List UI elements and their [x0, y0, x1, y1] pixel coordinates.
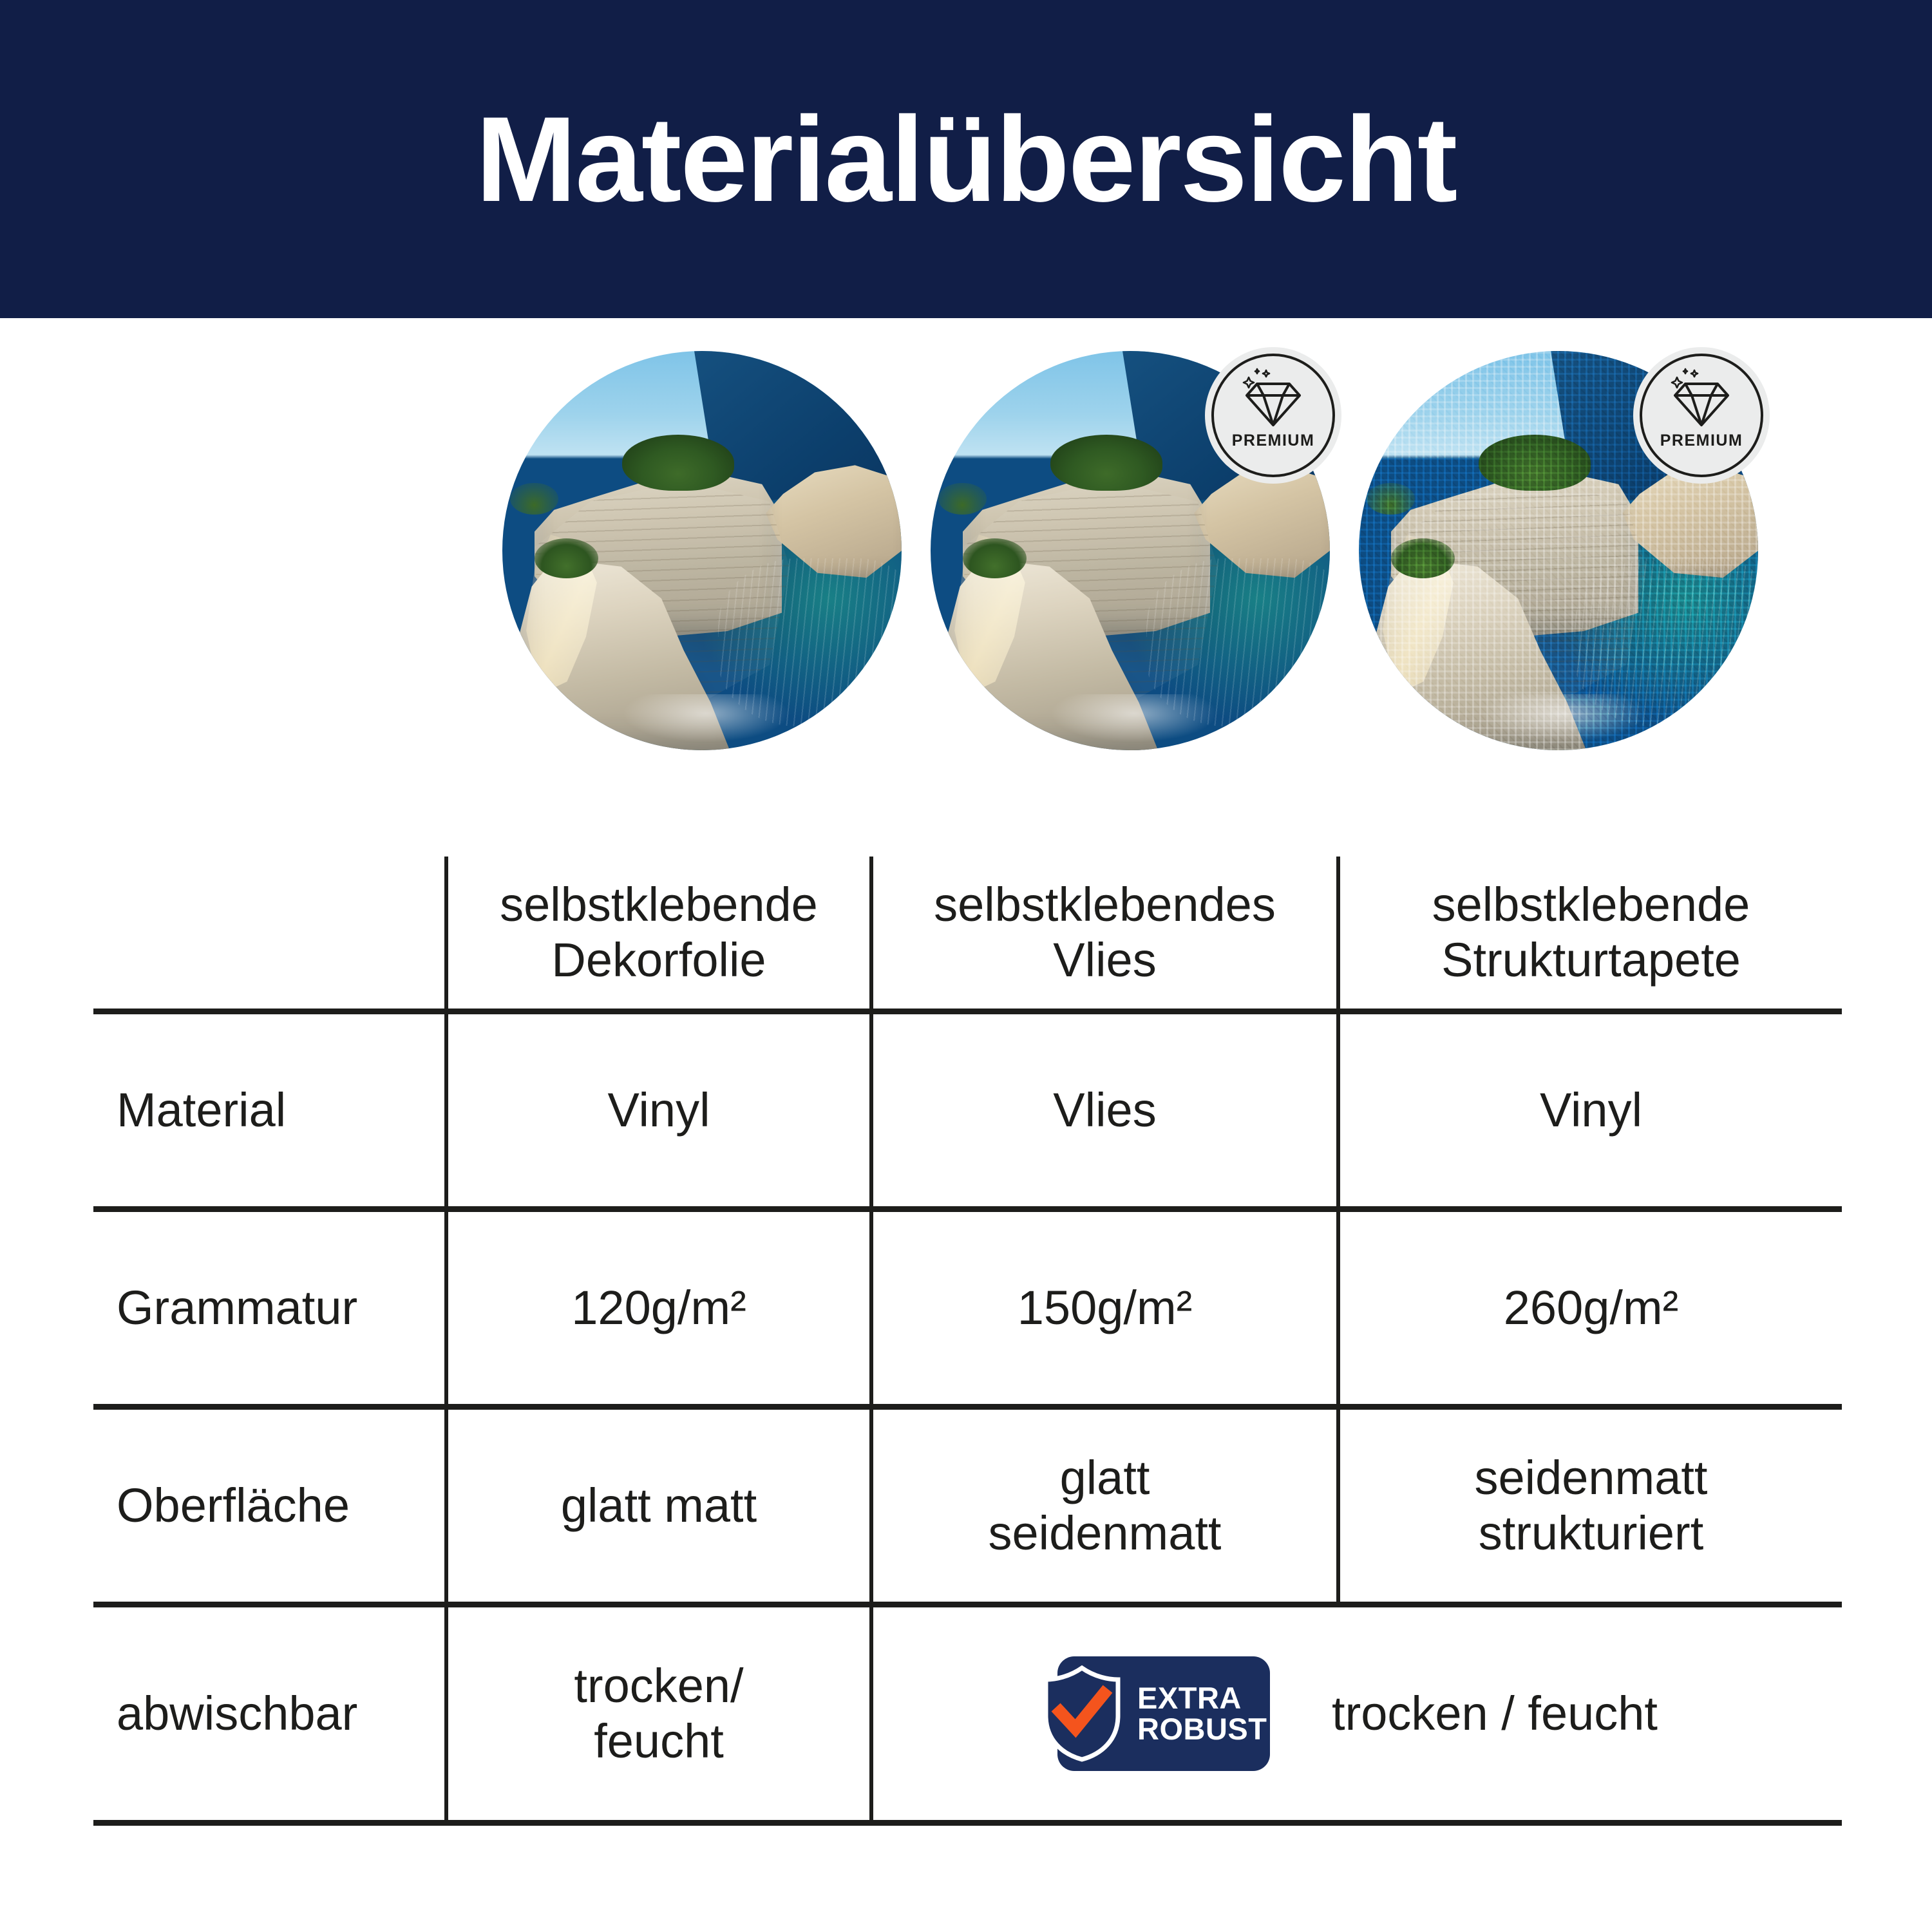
coastal-cliff-photo [502, 351, 902, 750]
shield-check-icon [1041, 1665, 1123, 1762]
column-header-dekorfolie: selbstklebende Dekorfolie [446, 857, 871, 1012]
cell-grammatur-dekorfolie: 120g/m² [446, 1209, 871, 1407]
premium-badge: PREMIUM [1205, 347, 1341, 484]
preview-dekorfolie[interactable] [502, 351, 902, 750]
vegetation-icon [963, 538, 1027, 578]
row-label-grammatur: Grammatur [93, 1209, 446, 1407]
row-label-material: Material [93, 1012, 446, 1209]
vegetation-icon [1050, 435, 1162, 491]
diamond-icon [1666, 367, 1737, 429]
table-row: abwischbar trocken/ feucht EXTRA ROBUST [93, 1605, 1842, 1823]
material-comparison-table: selbstklebende Dekorfolie selbstklebende… [93, 857, 1842, 1826]
premium-badge: PREMIUM [1633, 347, 1770, 484]
cell-material-dekorfolie: Vinyl [446, 1012, 871, 1209]
surf-foam-icon [1050, 694, 1218, 742]
row-label-abwischbar: abwischbar [93, 1605, 446, 1823]
column-header-vlies: selbstklebendes Vlies [871, 857, 1338, 1012]
header-bar: Materialübersicht [0, 0, 1932, 318]
diamond-icon [1238, 367, 1309, 429]
table-corner-cell [93, 857, 446, 1012]
extra-robust-line1: EXTRA [1137, 1683, 1267, 1714]
cell-abwischbar-dekorfolie: trocken/ feucht [446, 1605, 871, 1823]
cell-oberflaeche-strukturtapete: seidenmatt strukturiert [1338, 1407, 1842, 1605]
premium-badge-label: PREMIUM [1660, 431, 1743, 450]
table-header-row: selbstklebende Dekorfolie selbstklebende… [93, 857, 1842, 1012]
extra-robust-badge: EXTRA ROBUST [1057, 1656, 1270, 1771]
vegetation-icon [622, 435, 734, 491]
table-row: Material Vinyl Vlies Vinyl [93, 1012, 1842, 1209]
vegetation-icon [510, 483, 558, 515]
cell-material-vlies: Vlies [871, 1012, 1338, 1209]
cell-oberflaeche-dekorfolie: glatt matt [446, 1407, 871, 1605]
cell-grammatur-strukturtapete: 260g/m² [1338, 1209, 1842, 1407]
cell-material-strukturtapete: Vinyl [1338, 1012, 1842, 1209]
surf-foam-icon [622, 694, 790, 742]
table-row: Oberfläche glatt matt glatt seidenmatt s… [93, 1407, 1842, 1605]
page-title: Materialübersicht [476, 99, 1457, 220]
preview-strukturtapete[interactable]: PREMIUM [1359, 351, 1758, 750]
cell-oberflaeche-vlies: glatt seidenmatt [871, 1407, 1338, 1605]
preview-image-dekorfolie [502, 351, 902, 750]
vegetation-icon [938, 483, 986, 515]
vegetation-icon [535, 538, 598, 578]
premium-badge-label: PREMIUM [1232, 431, 1315, 450]
extra-robust-line2: ROBUST [1137, 1714, 1267, 1745]
cell-abwischbar-merged: EXTRA ROBUST trocken / feucht [871, 1605, 1842, 1823]
preview-strip: PREMIUM [0, 351, 1932, 763]
preview-vlies[interactable]: PREMIUM [931, 351, 1330, 750]
column-header-strukturtapete: selbstklebende Strukturtapete [1338, 857, 1842, 1012]
table-row: Grammatur 120g/m² 150g/m² 260g/m² [93, 1209, 1842, 1407]
cell-abwischbar-value: trocken / feucht [1332, 1686, 1658, 1741]
row-label-oberflaeche: Oberfläche [93, 1407, 446, 1605]
cell-grammatur-vlies: 150g/m² [871, 1209, 1338, 1407]
